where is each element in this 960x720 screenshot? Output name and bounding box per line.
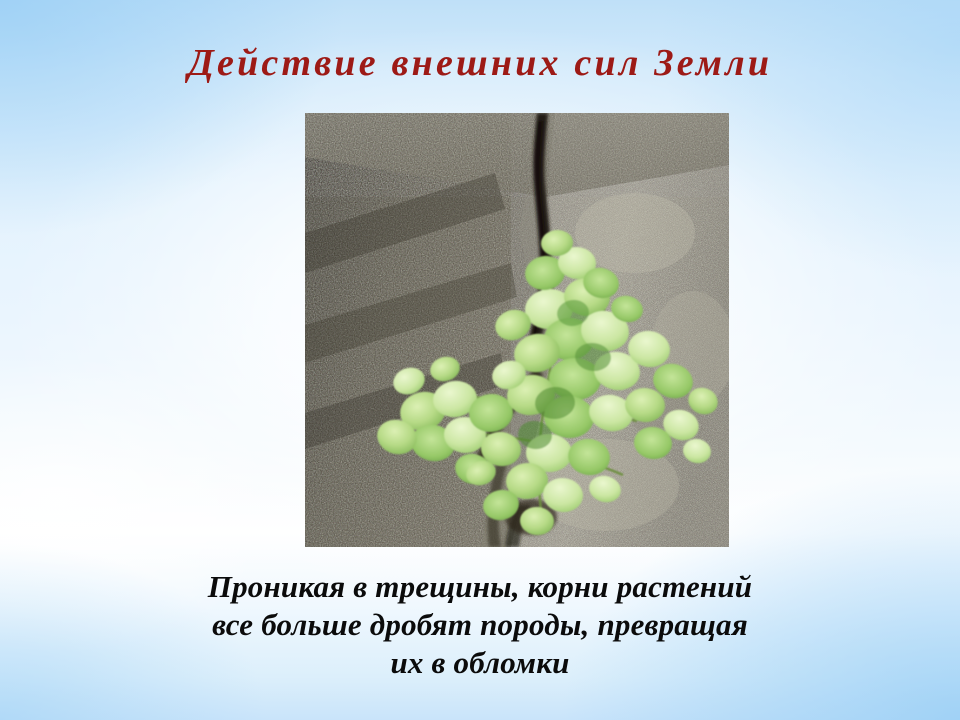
caption-line-3: их в обломки bbox=[60, 644, 900, 682]
slide-title: Действие внешних сил Земли bbox=[0, 40, 960, 86]
rock-fern-illustration bbox=[305, 113, 729, 547]
caption-line-1: Проникая в трещины, корни растений bbox=[60, 568, 900, 606]
slide-caption: Проникая в трещины, корни растений все б… bbox=[60, 568, 900, 682]
rock-fern-photo bbox=[305, 113, 729, 547]
slide: Действие внешних сил Земли bbox=[0, 0, 960, 720]
caption-line-2: все больше дробят породы, превращая bbox=[60, 606, 900, 644]
